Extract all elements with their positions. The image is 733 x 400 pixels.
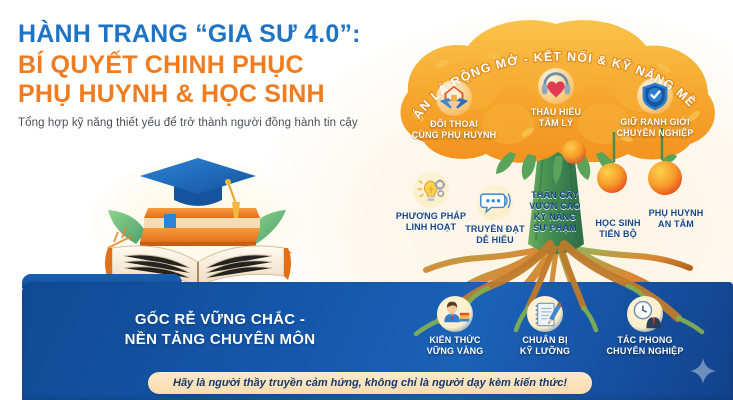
header: HÀNH TRANG “GIA SƯ 4.0”: BÍ QUYẾT CHINH …: [18, 20, 398, 129]
fruit-node-2-label-2: AN TÂM: [638, 219, 714, 230]
graduation-cap-books-illustration: [78, 152, 318, 292]
teacher-books-icon: [437, 296, 473, 332]
root-node-2-label-2: KỸ LƯỠNG: [507, 346, 583, 357]
canopy-node-1-label-2: CÙNG PHỤ HUYNH: [398, 130, 510, 141]
clock-suit-icon: [627, 296, 663, 332]
page-title-line1: HÀNH TRANG “GIA SƯ 4.0”:: [18, 20, 398, 48]
root-node-2[interactable]: CHUẨN BỊ KỸ LƯỠNG: [507, 296, 583, 357]
canopy-node-3-label-2: CHUYÊN NGHIỆP: [600, 128, 710, 139]
page-title-line2: BÍ QUYẾT CHINH PHỤC: [18, 51, 398, 80]
root-node-3-label-1: TÁC PHONG: [595, 335, 695, 346]
canopy-node-1[interactable]: ĐỐI THOẠI CÙNG PHỤ HUYNH: [398, 80, 510, 141]
fruit-node-1-label-2: TIẾN BỘ: [582, 229, 654, 240]
knowledge-tree-illustration: [378, 12, 733, 312]
canopy-node-2-label-1: THẤU HIỂU: [511, 107, 601, 118]
root-node-1[interactable]: KIẾN THỨC VỮNG VÀNG: [415, 296, 495, 357]
canopy-node-3[interactable]: GIỮ RANH GIỚI CHUYÊN NGHIỆP: [600, 78, 710, 139]
speech-bubble-icon: [477, 185, 513, 221]
infographic-canvas: HÀNH TRANG “GIA SƯ 4.0”: BÍ QUYẾT CHINH …: [0, 0, 733, 400]
root-node-1-label-2: VỮNG VÀNG: [415, 346, 495, 357]
trunk-label-line-1: THÂN CÂY: [517, 190, 593, 201]
root-node-3[interactable]: TÁC PHONG CHUYÊN NGHIỆP: [595, 296, 695, 357]
root-node-3-label-2: CHUYÊN NGHIỆP: [595, 346, 695, 357]
quote-pill: Hãy là người thầy truyền cảm hứng, không…: [148, 372, 592, 394]
sparkle-icon: [690, 358, 716, 384]
heart-headphones-icon: [538, 68, 574, 104]
canopy-node-1-label-1: ĐỐI THOẠI: [398, 119, 510, 130]
banner-title: GỐC RỄ VỮNG CHẮC - NỀN TẢNG CHUYÊN MÔN: [60, 310, 380, 351]
root-node-1-label-1: KIẾN THỨC: [415, 335, 495, 346]
book-stack: [140, 208, 260, 246]
canopy-node-2-label-2: TÂM LÝ: [511, 118, 601, 129]
trunk-label-line-2: VƯƠN CAO: [517, 201, 593, 212]
page-subtitle: Tổng hợp kỹ năng thiết yếu để trở thành …: [18, 117, 398, 129]
notepad-pencil-icon: [527, 296, 563, 332]
canopy-node-3-label-1: GIỮ RANH GIỚI: [600, 117, 710, 128]
banner-title-line-2: NỀN TẢNG CHUYÊN MÔN: [60, 330, 380, 350]
lightbulb-gear-icon: [413, 172, 449, 208]
page-title-line3: PHỤ HUYNH & HỌC SINH: [18, 80, 398, 109]
root-node-2-label-1: CHUẨN BỊ: [507, 335, 583, 346]
canopy-node-2[interactable]: THẤU HIỂU TÂM LÝ: [511, 68, 601, 129]
handshake-house-icon: [436, 80, 472, 116]
fruit-node-2-label-1: PHỤ HUYNH: [638, 208, 714, 219]
shield-check-icon: [637, 78, 673, 114]
banner-title-line-1: GỐC RỄ VỮNG CHẮC -: [60, 310, 380, 330]
branch-node-2-label-2: DỄ HIỂU: [455, 235, 535, 246]
quote-text: Hãy là người thầy truyền cảm hứng, không…: [173, 377, 567, 389]
fruit-node-2[interactable]: PHỤ HUYNH AN TÂM: [638, 208, 714, 230]
